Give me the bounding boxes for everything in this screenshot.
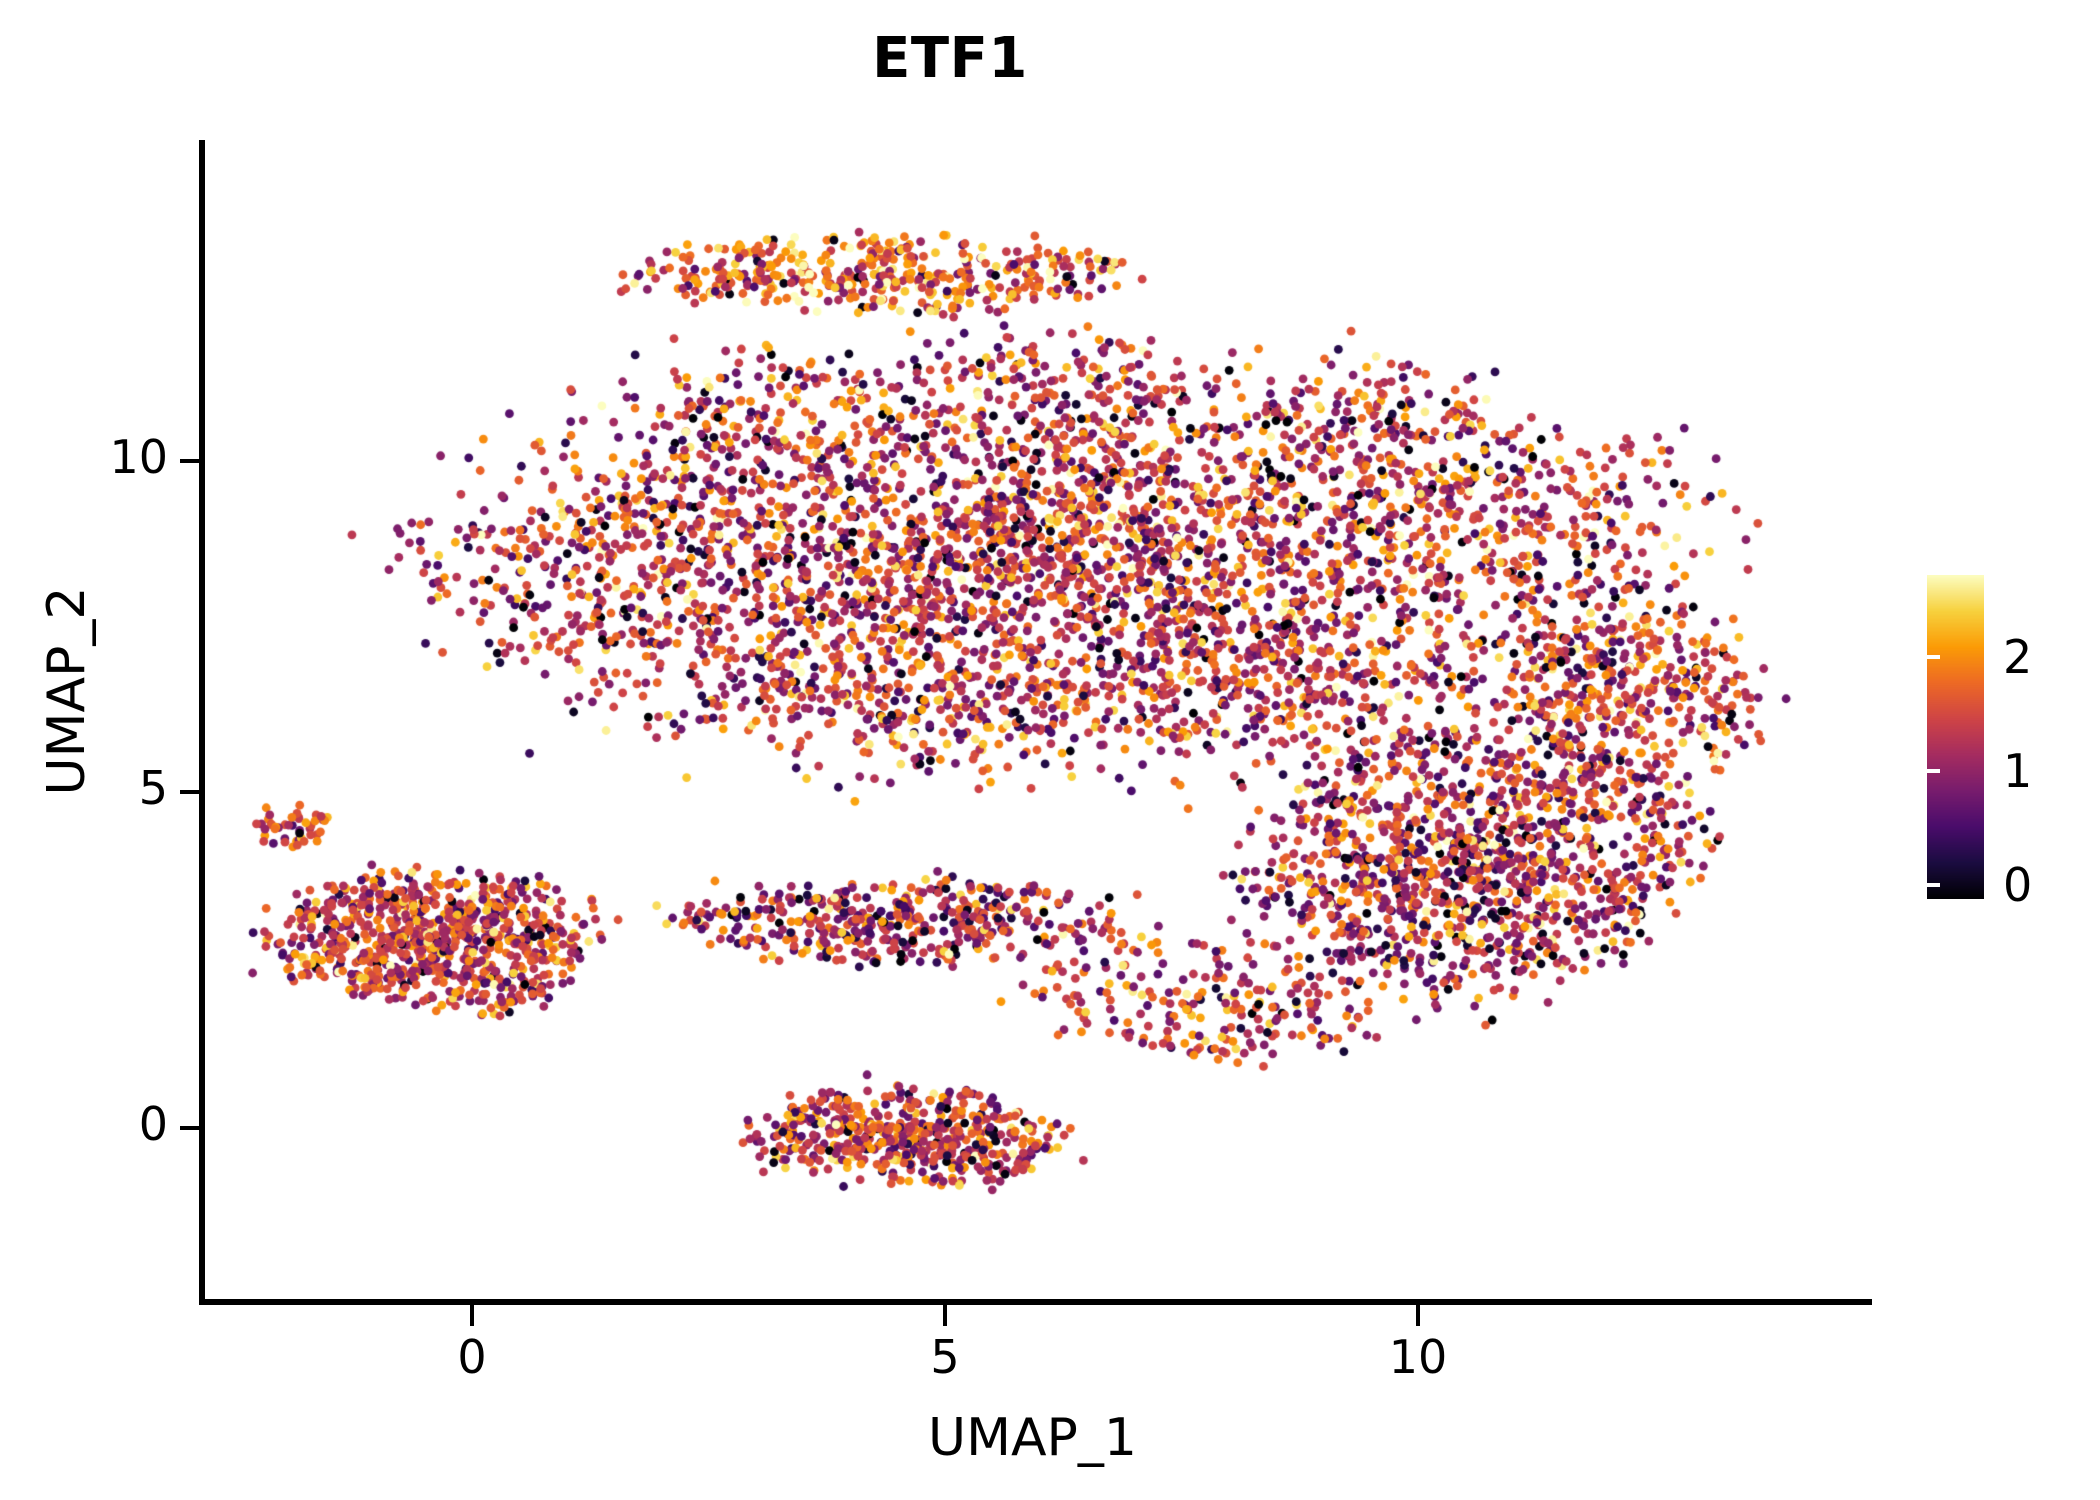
x-tick-mark-0 bbox=[470, 1305, 474, 1326]
x-tick-mark-10 bbox=[1416, 1305, 1420, 1326]
y-tick-label-10: 10 bbox=[109, 434, 168, 480]
y-axis-line bbox=[199, 140, 205, 1305]
colorbar-label-0: 0 bbox=[2003, 862, 2032, 908]
y-axis-title: UMAP_2 bbox=[37, 371, 97, 1011]
scatter-plot-figure: ETF1 10 5 0 0 5 10 UMAP_1 UMAP_2 2 1 0 bbox=[0, 0, 2100, 1500]
x-tick-label-5: 5 bbox=[875, 1334, 1015, 1380]
colorbar-label-1: 1 bbox=[2003, 748, 2032, 794]
x-axis-title: UMAP_1 bbox=[0, 1408, 2065, 1468]
y-tick-mark-10 bbox=[180, 459, 200, 463]
y-tick-mark-5 bbox=[180, 790, 200, 794]
x-axis-line bbox=[199, 1299, 1872, 1305]
colorbar-tick-0-right bbox=[2064, 883, 2077, 887]
y-tick-label-5: 5 bbox=[139, 765, 168, 811]
colorbar-tick-1-left bbox=[1927, 769, 1940, 773]
colorbar-gradient bbox=[1927, 575, 1984, 899]
colorbar-tick-2-right bbox=[2064, 655, 2077, 659]
colorbar-tick-0-left bbox=[1927, 883, 1940, 887]
colorbar-tick-1-right bbox=[2064, 769, 2077, 773]
y-tick-mark-0 bbox=[180, 1126, 200, 1130]
x-tick-label-0: 0 bbox=[402, 1334, 542, 1380]
x-tick-label-10: 10 bbox=[1348, 1334, 1488, 1380]
plot-panel bbox=[204, 140, 1872, 1302]
colorbar-tick-2-left bbox=[1927, 655, 1940, 659]
y-tick-label-0: 0 bbox=[139, 1101, 168, 1147]
page-title: ETF1 bbox=[0, 26, 1900, 91]
colorbar-legend: 2 1 0 bbox=[1927, 575, 2077, 899]
scatter-points-layer bbox=[204, 140, 1872, 1302]
x-tick-mark-5 bbox=[943, 1305, 947, 1326]
colorbar-label-2: 2 bbox=[2003, 634, 2032, 680]
